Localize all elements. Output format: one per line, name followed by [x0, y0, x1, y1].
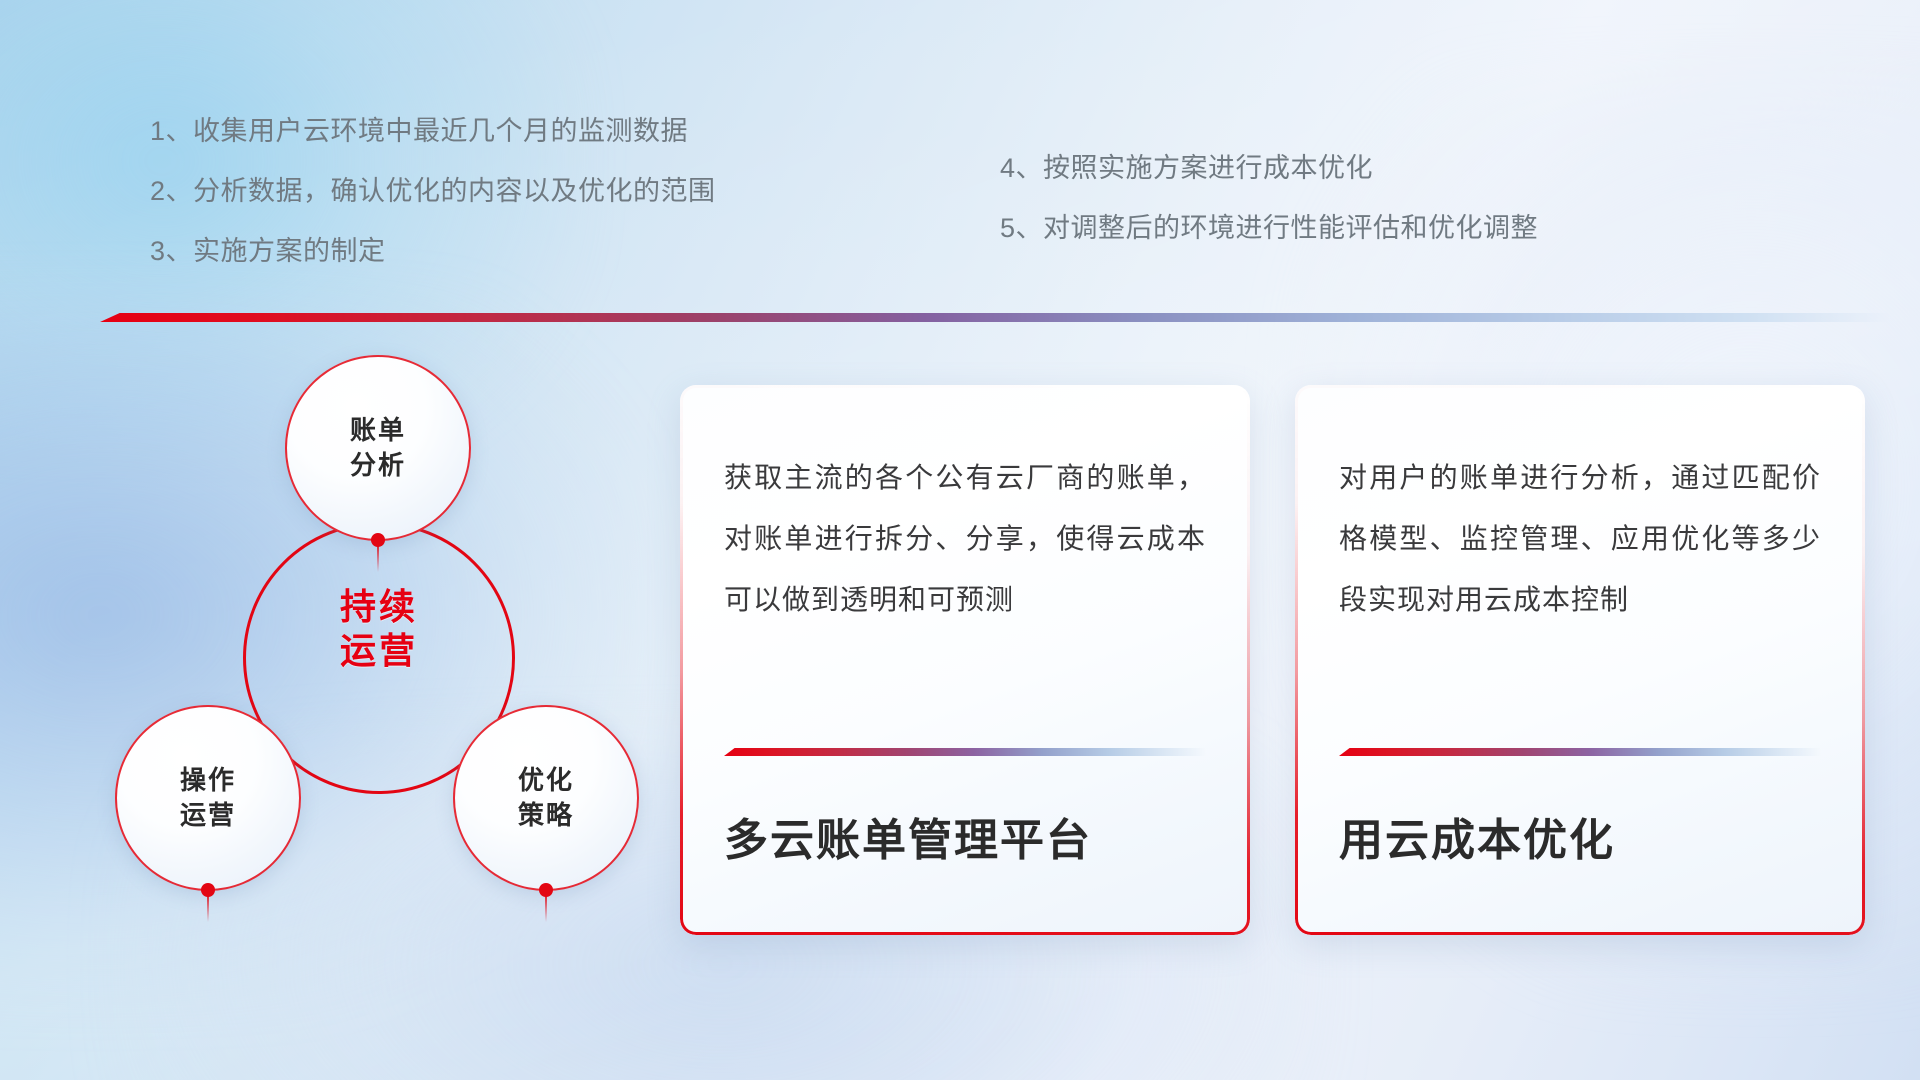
steps-column-left: 1、收集用户云环境中最近几个月的监测数据 2、分析数据，确认优化的内容以及优化的…	[150, 118, 716, 265]
continuous-operations-diagram: 持续 运营 账单 分析 操作 运营 优化 策略	[95, 355, 665, 945]
card-accent-rule	[1339, 748, 1821, 756]
diagram-node-operations[interactable]: 操作 运营	[115, 705, 301, 891]
step-item-1: 1、收集用户云环境中最近几个月的监测数据	[150, 118, 716, 145]
node-connector-tail-left	[207, 896, 209, 922]
node-label-line-2: 分析	[350, 450, 406, 481]
step-item-2: 2、分析数据，确认优化的内容以及优化的范围	[150, 178, 716, 205]
card-title: 多云账单管理平台	[724, 756, 1206, 935]
step-item-4: 4、按照实施方案进行成本优化	[1000, 155, 1538, 182]
card-title: 用云成本优化	[1339, 756, 1821, 935]
card-accent-rule	[724, 748, 1206, 756]
step-item-3: 3、实施方案的制定	[150, 238, 716, 265]
section-divider-rule	[100, 313, 1890, 322]
steps-column-right: 4、按照实施方案进行成本优化 5、对调整后的环境进行性能评估和优化调整	[1000, 155, 1538, 242]
node-label-line-1: 账单	[350, 415, 406, 446]
node-marker-dot-left	[201, 883, 215, 897]
card-description: 对用户的账单进行分析，通过匹配价格模型、监控管理、应用优化等多少段实现对用云成本…	[1339, 447, 1821, 630]
node-connector-tail-right	[545, 896, 547, 922]
node-connector-tail-top	[377, 546, 379, 572]
diagram-center-label: 持续 运营	[243, 585, 515, 673]
node-label-line-2: 策略	[518, 800, 574, 831]
card-description: 获取主流的各个公有云厂商的账单，对账单进行拆分、分享，使得云成本可以做到透明和可…	[724, 447, 1206, 630]
node-marker-dot-top	[371, 533, 385, 547]
node-label-line-1: 优化	[518, 765, 574, 796]
center-label-line-1: 持续	[243, 585, 515, 629]
step-item-5: 5、对调整后的环境进行性能评估和优化调整	[1000, 215, 1538, 242]
feature-card-multicloud-billing[interactable]: 获取主流的各个公有云厂商的账单，对账单进行拆分、分享，使得云成本可以做到透明和可…	[680, 385, 1250, 935]
feature-card-cloud-cost-optimization[interactable]: 对用户的账单进行分析，通过匹配价格模型、监控管理、应用优化等多少段实现对用云成本…	[1295, 385, 1865, 935]
node-label-line-1: 操作	[180, 765, 236, 796]
diagram-node-bill-analysis[interactable]: 账单 分析	[285, 355, 471, 541]
node-label-line-2: 运营	[180, 800, 236, 831]
center-label-line-2: 运营	[243, 629, 515, 673]
node-marker-dot-right	[539, 883, 553, 897]
diagram-node-optimization-strategy[interactable]: 优化 策略	[453, 705, 639, 891]
